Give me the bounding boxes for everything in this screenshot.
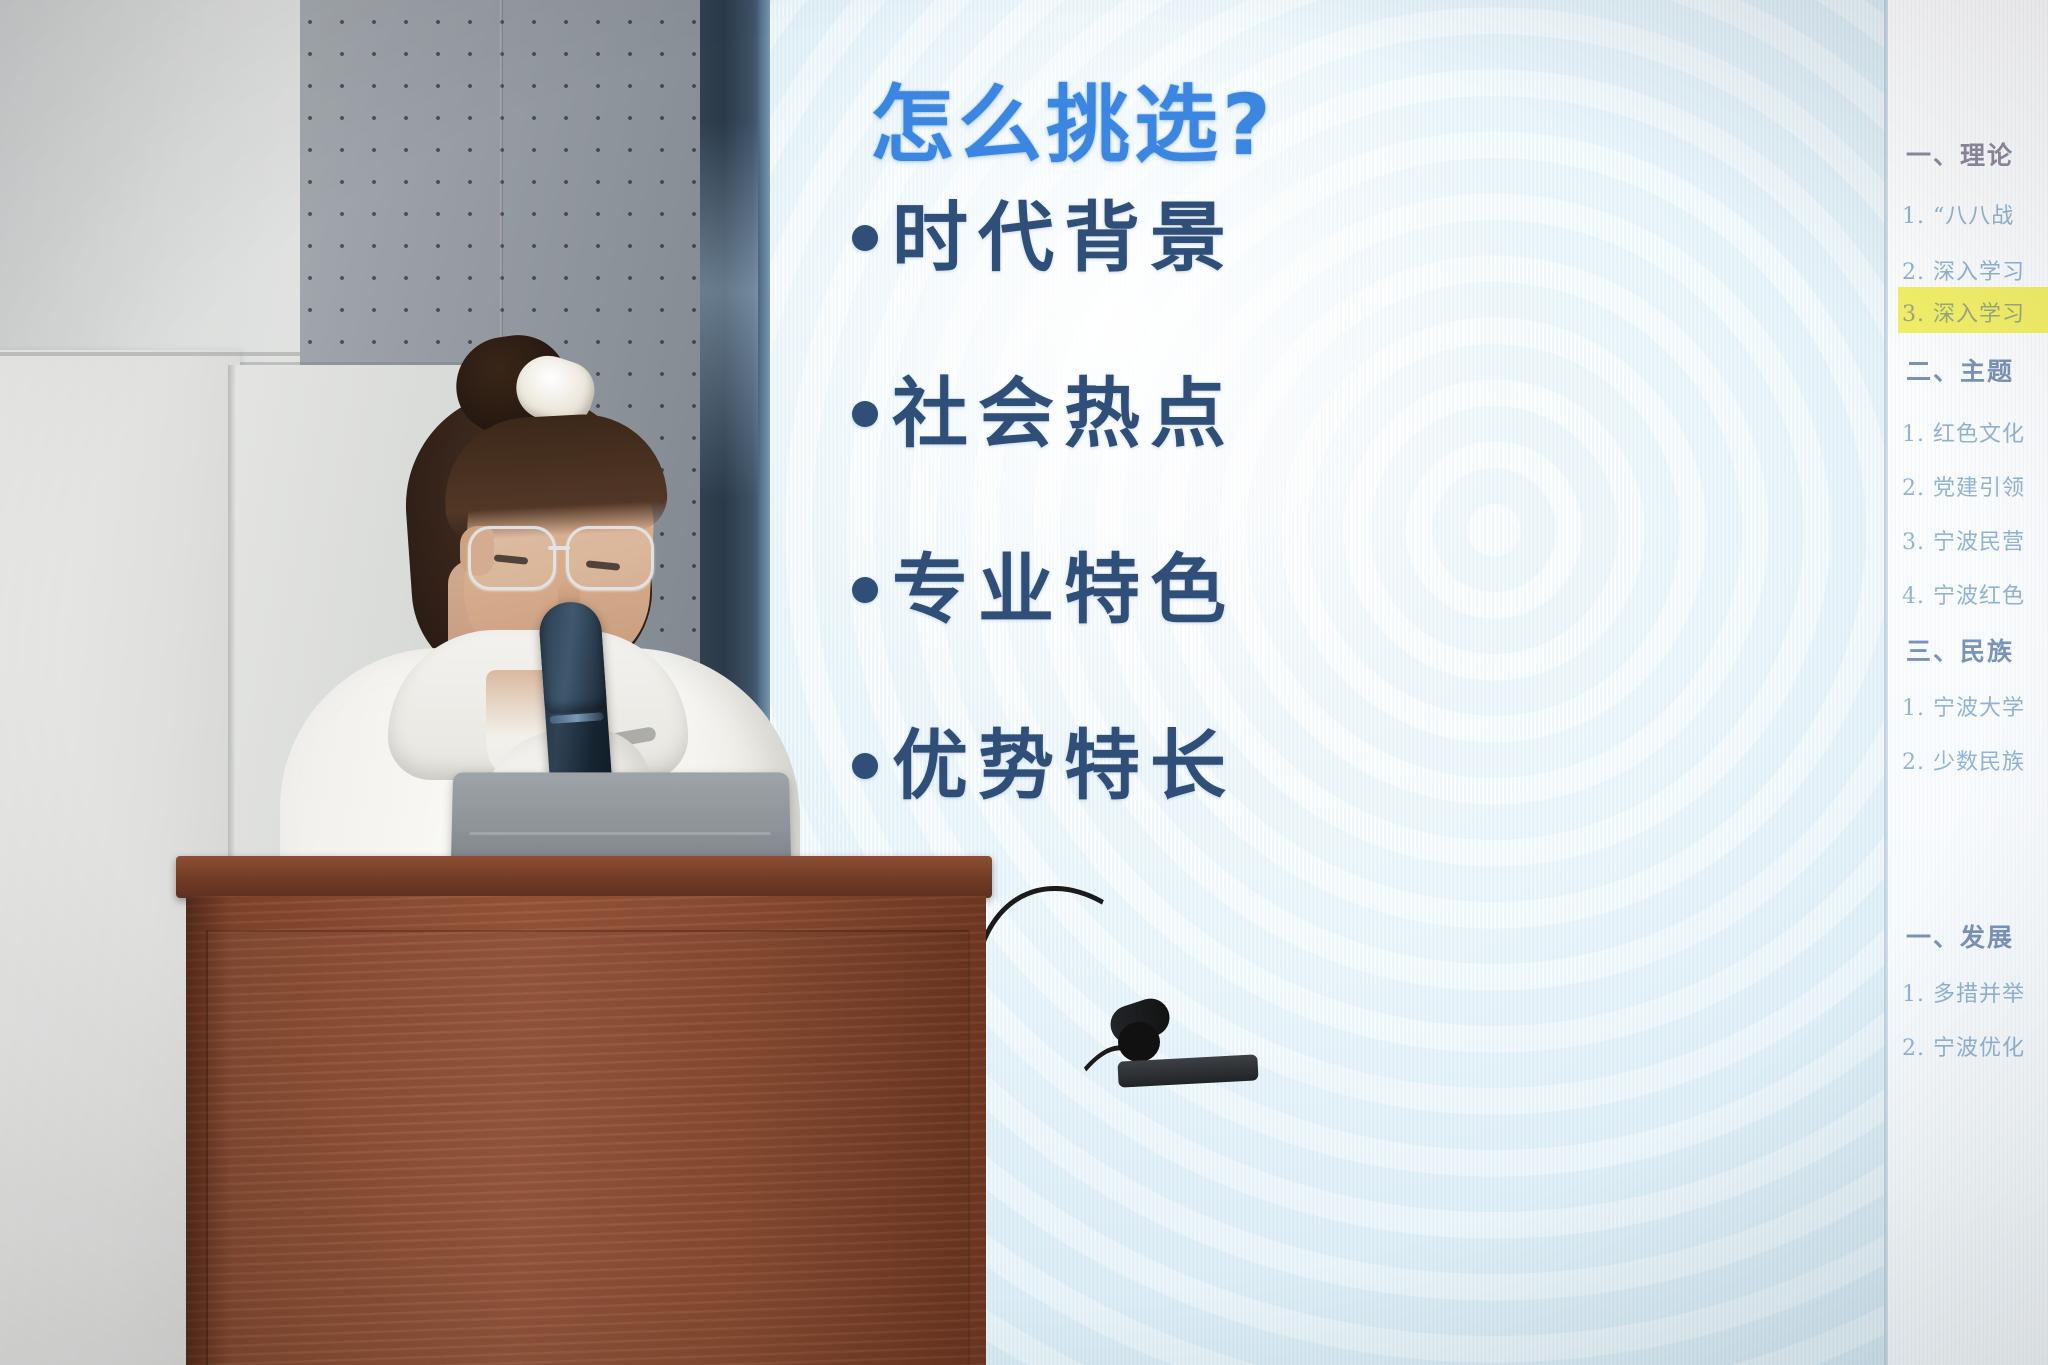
outline-item: 2. 深入学习: [1902, 254, 2025, 286]
outline-heading: 一、理论: [1906, 136, 2014, 172]
slide-bullet-list: 时代背景 社会热点 专业特色 优势特长: [852, 150, 1236, 854]
bullet-dot-icon: [852, 577, 878, 603]
outline-slide-content: 一、理论 1. “八八战 2. 深入学习 3. 深入学习 二、主题 1. 红色文…: [1888, 0, 2048, 1365]
slide-bullet-item: 时代背景: [852, 150, 1236, 326]
slide-bullet-item: 社会热点: [852, 326, 1236, 502]
microphone-grille: [538, 600, 608, 714]
laptop-hinge: [470, 832, 771, 835]
wall-seam-horizontal: [0, 352, 300, 356]
outline-item-highlighted: 3. 深入学习: [1902, 296, 2025, 328]
projection-screen-secondary: 一、理论 1. “八八战 2. 深入学习 3. 深入学习 二、主题 1. 红色文…: [1888, 0, 2048, 1365]
outline-item: 4. 宁波红色: [1902, 578, 2025, 610]
outline-heading: 三、民族: [1906, 632, 2014, 668]
podium-front-panel: [206, 930, 970, 1365]
podium-shadow: [186, 896, 232, 1365]
gooseneck-microphone-neck: [1118, 1022, 1160, 1062]
outline-heading: 二、主题: [1906, 352, 2014, 388]
podium-top-surface: [176, 856, 992, 898]
bullet-dot-icon: [852, 225, 878, 251]
outline-item: 2. 宁波优化: [1902, 1030, 2025, 1062]
laptop: [451, 772, 791, 864]
outline-item: 1. 多措并举: [1902, 976, 2025, 1008]
bullet-dot-icon: [852, 753, 878, 779]
bullet-dot-icon: [852, 401, 878, 427]
bullet-label: 专业特色: [892, 552, 1236, 628]
glasses-icon: [468, 526, 658, 588]
outline-item: 2. 党建引领: [1902, 470, 2025, 502]
outline-item: 1. “八八战: [1902, 198, 2014, 230]
bullet-label: 优势特长: [892, 728, 1236, 804]
outline-item: 2. 少数民族: [1902, 744, 2025, 776]
outline-heading: 一、发展: [1906, 918, 2014, 954]
glasses-lens-left: [468, 526, 556, 590]
glasses-lens-right: [566, 526, 654, 590]
slide-bullet-item: 优势特长: [852, 678, 1236, 854]
outline-item: 1. 红色文化: [1902, 416, 2025, 448]
slide-bullet-item: 专业特色: [852, 502, 1236, 678]
presentation-photo-scene: 怎么挑选? 时代背景 社会热点 专业特色 优势特长: [0, 0, 2048, 1365]
microphone-ring: [549, 712, 603, 724]
bullet-label: 时代背景: [892, 200, 1236, 276]
bullet-label: 社会热点: [892, 376, 1236, 452]
outline-item: 3. 宁波民营: [1902, 524, 2025, 556]
outline-item: 1. 宁波大学: [1902, 690, 2025, 722]
